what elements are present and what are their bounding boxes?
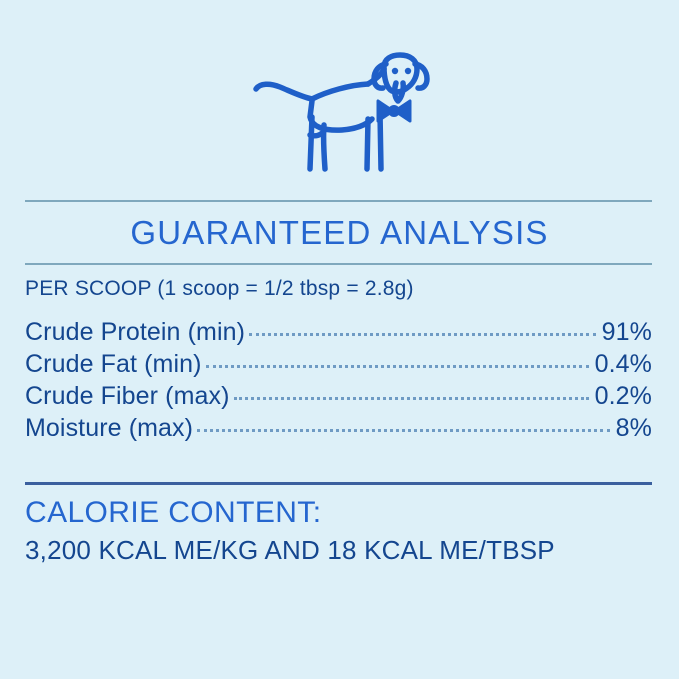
dog-with-bowtie-illustration <box>0 46 679 186</box>
analysis-row: Crude Fat (min) 0.4% <box>25 350 652 382</box>
nutrient-label: Crude Fiber (max) <box>25 382 230 411</box>
leader-dots <box>206 365 589 368</box>
dog-icon <box>250 51 430 181</box>
dog-eye-right <box>404 68 410 74</box>
calorie-content-value: 3,200 KCAL ME/KG AND 18 KCAL ME/TBSP <box>25 535 555 566</box>
calorie-content-title: CALORIE CONTENT: <box>25 496 321 530</box>
nutrient-label: Crude Protein (min) <box>25 318 245 347</box>
nutrient-value: 8% <box>616 414 652 443</box>
serving-size-note: PER SCOOP (1 scoop = 1/2 tbsp = 2.8g) <box>25 277 414 301</box>
analysis-row: Crude Fiber (max) 0.2% <box>25 382 652 414</box>
dog-eye-left <box>391 68 397 74</box>
divider-bottom <box>25 482 652 485</box>
nutrient-label: Moisture (max) <box>25 414 193 443</box>
nutrient-value: 91% <box>602 318 652 347</box>
analysis-row: Moisture (max) 8% <box>25 414 652 446</box>
bowtie-icon <box>378 101 410 121</box>
nutrient-label: Crude Fat (min) <box>25 350 202 379</box>
nutrient-value: 0.2% <box>595 382 652 411</box>
section-title-guaranteed-analysis: GUARANTEED ANALYSIS <box>0 214 679 252</box>
leader-dots <box>234 397 589 400</box>
leader-dots <box>197 429 610 432</box>
analysis-row: Crude Protein (min) 91% <box>25 318 652 350</box>
guaranteed-analysis-list: Crude Protein (min) 91% Crude Fat (min) … <box>25 318 652 446</box>
guaranteed-analysis-label: GUARANTEED ANALYSIS PER SCOOP (1 scoop =… <box>0 0 679 679</box>
nutrient-value: 0.4% <box>595 350 652 379</box>
leader-dots <box>249 333 596 336</box>
divider-middle <box>25 263 652 265</box>
divider-top <box>25 200 652 202</box>
